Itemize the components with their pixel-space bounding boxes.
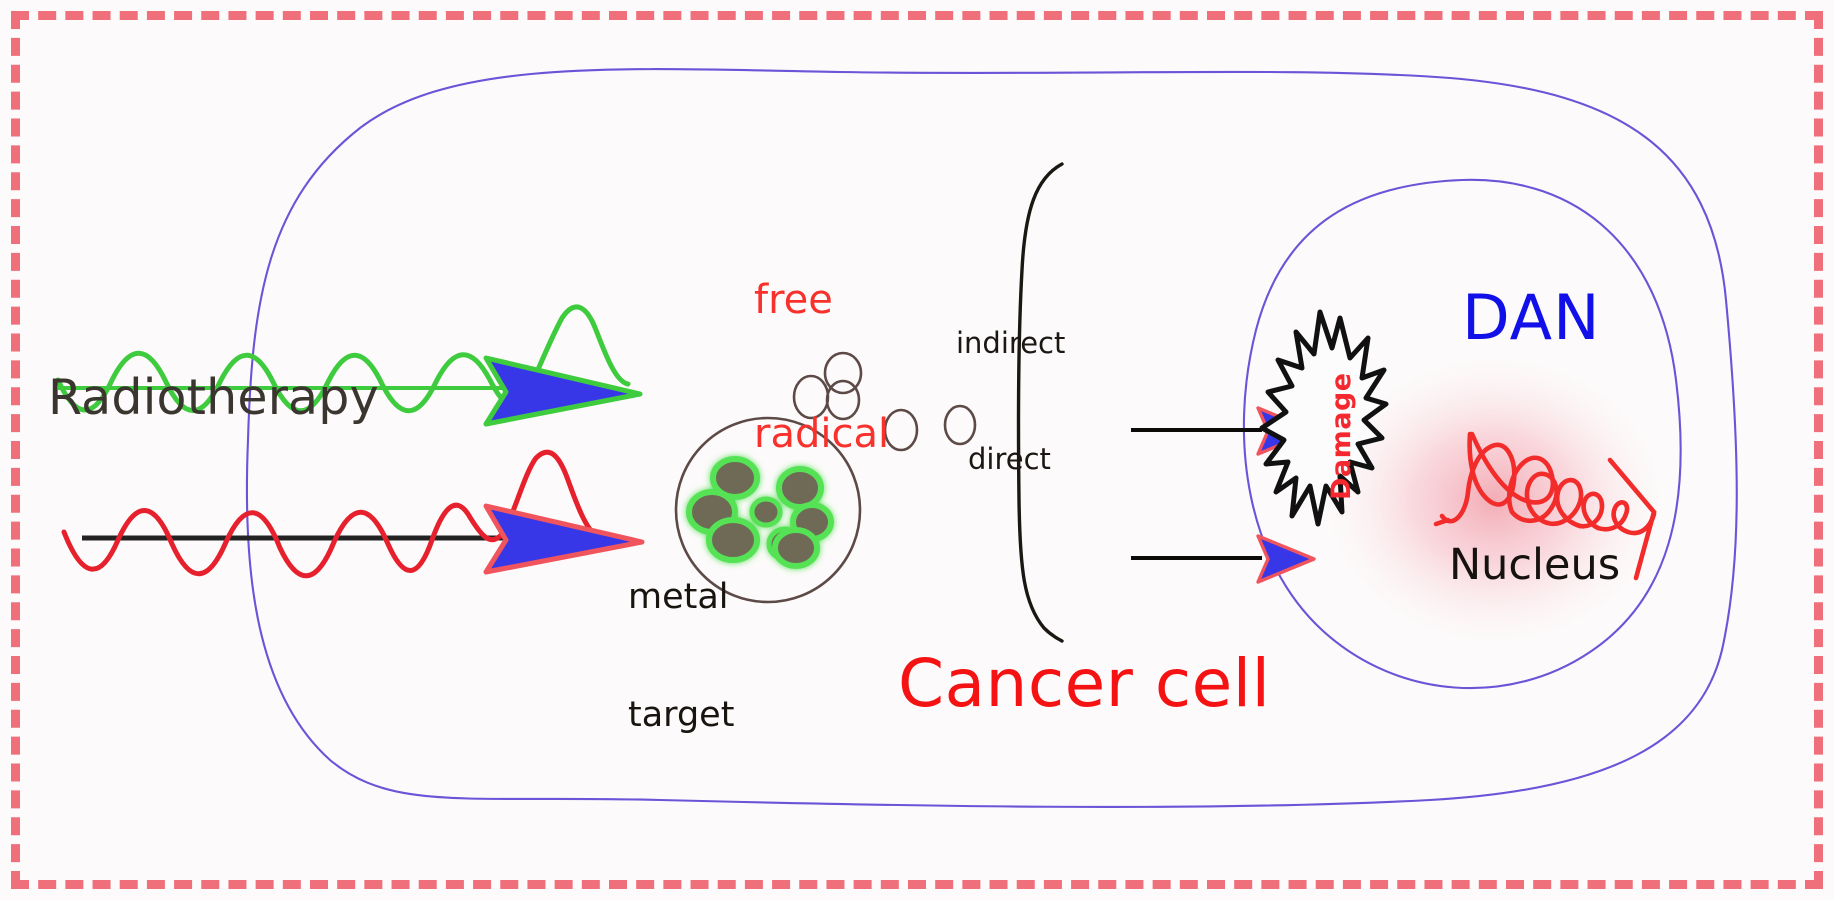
diagram-vector-layer	[0, 0, 1834, 900]
direct-arrow	[1131, 536, 1314, 582]
free-radical-circle	[885, 410, 917, 450]
label-radiotherapy: Radiotherapy	[48, 372, 379, 425]
label-indirect: indirect	[956, 328, 1065, 359]
free-radical-circle	[945, 406, 975, 444]
label-metal-target: metal target	[628, 500, 734, 814]
label-free-radical: free radical	[754, 188, 889, 546]
label-metal-target-line1: metal	[628, 578, 734, 617]
label-cancer-cell: Cancer cell	[898, 648, 1270, 719]
lower-arrowhead	[486, 506, 642, 572]
label-direct: direct	[968, 444, 1051, 475]
label-dan: DAN	[1462, 285, 1600, 352]
label-metal-target-line2: target	[628, 696, 734, 735]
label-damage: Damage	[1326, 356, 1360, 516]
upper-arrowhead	[486, 358, 640, 424]
label-free-radical-line1: free	[754, 278, 889, 323]
diagram-canvas: Radiotherapy free radical metal target i…	[0, 0, 1834, 900]
grouping-brace	[1018, 164, 1062, 641]
label-free-radical-line2: radical	[754, 412, 889, 457]
label-nucleus: Nucleus	[1449, 542, 1620, 588]
